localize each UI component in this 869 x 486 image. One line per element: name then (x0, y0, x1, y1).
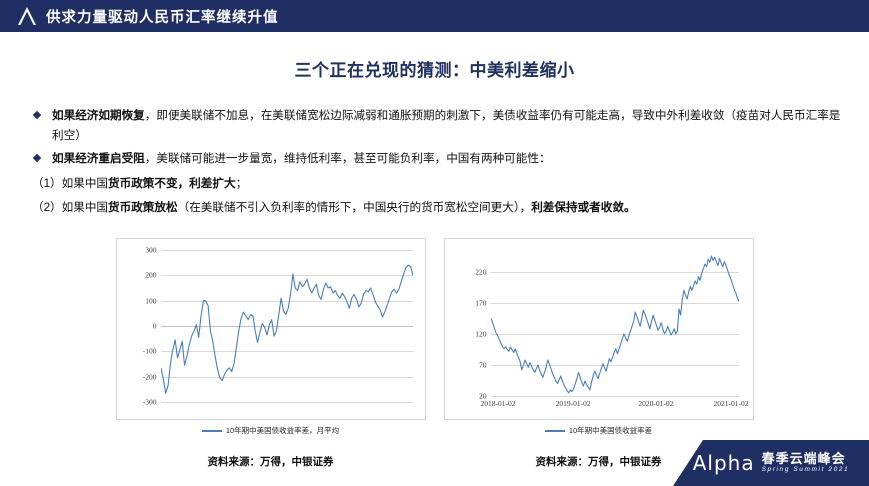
chart-plot-monthly-spread: 3002001000-100-200-300 (116, 238, 426, 420)
page-title: 三个正在兑现的猜测：中美利差缩小 (0, 56, 869, 81)
bullet-2-rest: ，美联储可能进一步量宽，维持低利率，甚至可能负利率，中国有两种可能性： (145, 152, 551, 165)
summit-wordmark: 春季云端峰会 Spring Summit 2021 (762, 452, 850, 474)
x-axis-tick-label: 2018-01-02 (481, 399, 516, 408)
bullet-item-2-text: 如果经济重启受阻，美联储可能进一步量宽，维持低利率，甚至可能负利率，中国有两种可… (52, 149, 842, 169)
y-axis-tick-label: 300 (145, 246, 156, 255)
y-axis-tick-label: 220 (475, 267, 486, 276)
chart-plot-daily-spread: 22017012070202018-01-022019-01-022020-01… (444, 238, 754, 420)
bullet-1-bold-lead: 如果经济如期恢复 (52, 109, 145, 122)
y-axis-tick-label: -200 (143, 372, 157, 381)
footer-logo-banner: Alpha 春季云端峰会 Spring Summit 2021 (673, 440, 869, 486)
plot-area-monthly: 3002001000-100-200-300 (161, 250, 413, 402)
numbered-item-2: （2）如果中国货币政策放松（在美联储不引入负利率的情形下，中国央行的货币宽松空间… (32, 198, 842, 218)
header-bar: 供求力量驱动人民币汇率继续升值 (0, 0, 869, 32)
bullet-item-1: 如果经济如期恢复，即便美联储不加息，在美联储宽松边际减弱和通胀预期的刺激下，美债… (32, 106, 842, 145)
x-axis-tick-label: 2020-01-02 (638, 399, 673, 408)
gridline (161, 402, 413, 403)
y-axis-tick-label: -300 (143, 398, 157, 407)
chart-legend-daily: 10年期中美国债收益率差 (444, 425, 754, 436)
diamond-bullet-icon (32, 106, 52, 121)
numbered-1-bold: 货币政策不变，利差扩大 (108, 177, 236, 190)
chart-source-monthly: 资料来源：万得，中银证券 (116, 454, 426, 469)
chart-legend-monthly: 10年期中美国债收益率差，月平均 (116, 425, 426, 436)
legend-label-daily: 10年期中美国债收益率差 (569, 425, 652, 436)
legend-line-swatch-icon (545, 430, 565, 432)
triangle-a-logo-icon (14, 0, 40, 32)
y-axis-tick-label: -100 (143, 347, 157, 356)
body-content: 如果经济如期恢复，即便美联储不加息，在美联储宽松边际减弱和通胀预期的刺激下，美债… (32, 106, 842, 218)
numbered-2-bold2: 利差保持或者收敛。 (531, 201, 635, 214)
diamond-bullet-icon (32, 149, 52, 164)
numbered-2-prefix: （2）如果中国 (32, 201, 108, 214)
numbered-1-suffix: ； (236, 177, 248, 190)
y-axis-tick-label: 70 (479, 360, 487, 369)
bullet-2-bold-lead: 如果经济重启受阻 (52, 152, 145, 165)
numbered-2-middle: （在美联储不引入负利率的情形下，中国央行的货币宽松空间更大）， (178, 201, 532, 214)
legend-line-swatch-icon (202, 430, 222, 432)
bullet-item-1-text: 如果经济如期恢复，即便美联储不加息，在美联储宽松边际减弱和通胀预期的刺激下，美债… (52, 106, 842, 145)
numbered-item-1: （1）如果中国货币政策不变，利差扩大； (32, 174, 842, 194)
chart-card-daily-spread: 22017012070202018-01-022019-01-022020-01… (444, 238, 754, 469)
numbered-1-prefix: （1）如果中国 (32, 177, 108, 190)
y-axis-tick-label: 120 (475, 329, 486, 338)
summit-en-text: Spring Summit 2021 (762, 467, 850, 474)
chart-card-monthly-spread: 3002001000-100-200-300 10年期中美国债收益率差，月平均 … (116, 238, 426, 469)
plot-area-daily: 22017012070202018-01-022019-01-022020-01… (491, 253, 739, 396)
y-axis-tick-label: 100 (145, 296, 156, 305)
numbered-2-bold: 货币政策放松 (108, 201, 178, 214)
y-axis-tick-label: 200 (145, 271, 156, 280)
gridline (491, 396, 739, 397)
x-axis-tick-label: 2019-01-02 (556, 399, 591, 408)
bullet-item-2: 如果经济重启受阻，美联储可能进一步量宽，维持低利率，甚至可能负利率，中国有两种可… (32, 149, 842, 169)
header-title: 供求力量驱动人民币汇率继续升值 (46, 6, 279, 27)
series-line (161, 250, 413, 402)
y-axis-tick-label: 170 (475, 298, 486, 307)
charts-row: 3002001000-100-200-300 10年期中美国债收益率差，月平均 … (0, 238, 869, 469)
bullet-1-rest: ，即便美联储不加息，在美联储宽松边际减弱和通胀预期的刺激下，美债收益率仍有可能走… (52, 109, 840, 142)
series-line (491, 253, 739, 396)
y-axis-tick-label: 0 (153, 322, 157, 331)
summit-cn-text: 春季云端峰会 (762, 452, 850, 466)
alpha-wordmark: Alpha (693, 451, 755, 475)
legend-label-monthly: 10年期中美国债收益率差，月平均 (226, 425, 339, 436)
x-axis-tick-label: 2021-01-02 (714, 399, 749, 408)
